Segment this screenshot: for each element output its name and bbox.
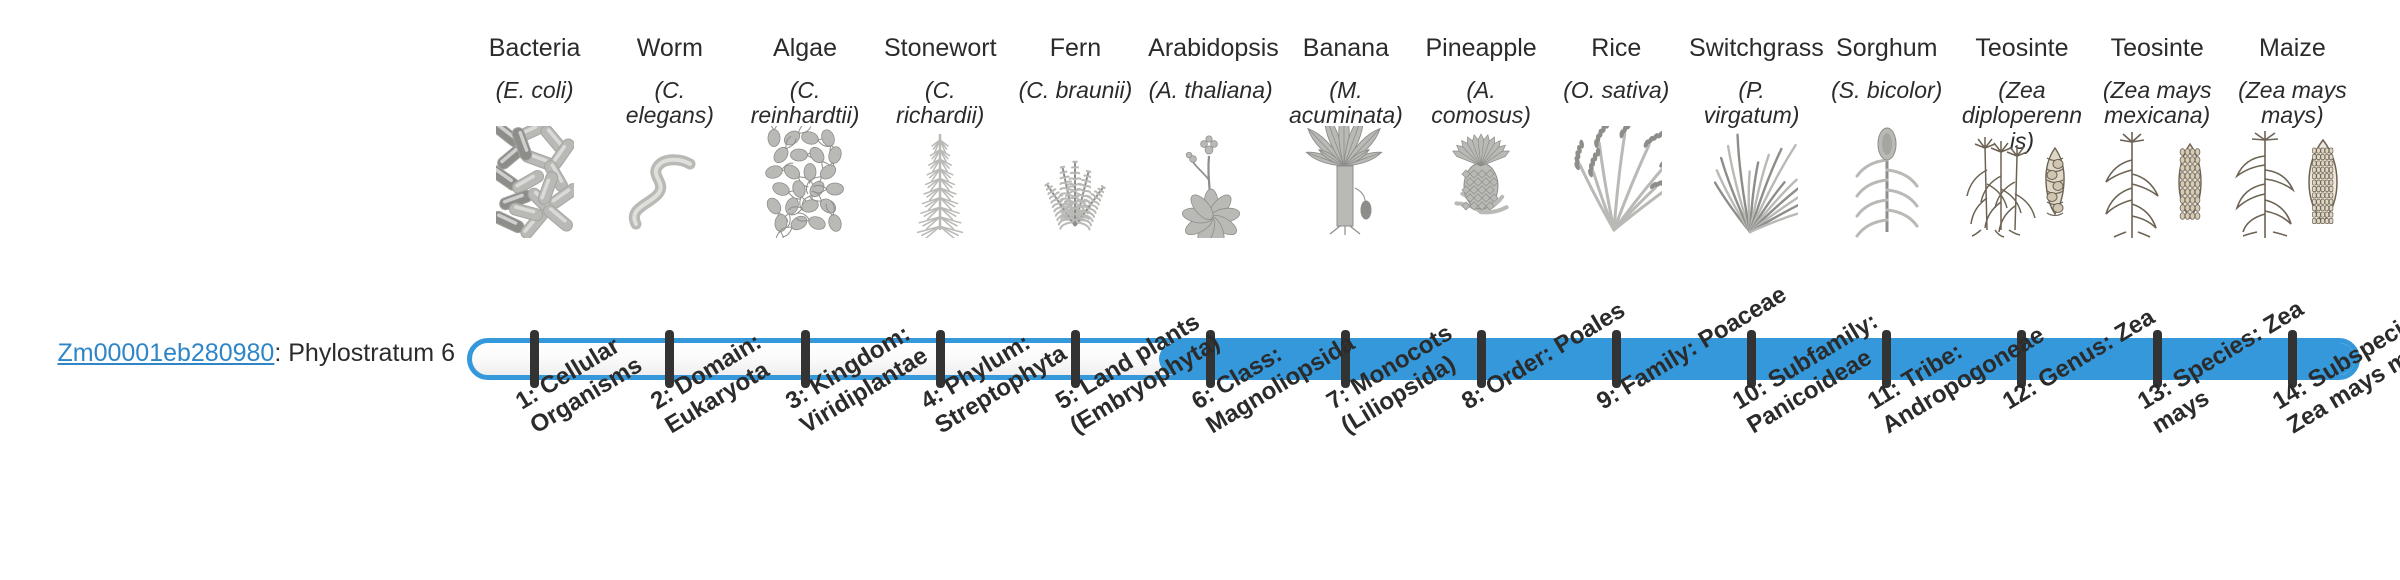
species-latin-name: (C. elegans): [607, 68, 732, 136]
worm-icon: [607, 142, 732, 238]
species-common-name: Rice: [1554, 0, 1679, 68]
species-common-name: Switchgrass: [1689, 0, 1814, 68]
species-column: Algae(C. reinhardtii): [743, 0, 868, 238]
species-common-name: Fern: [1013, 0, 1138, 68]
arabidopsis-icon: [1148, 142, 1273, 238]
species-common-name: Arabidopsis: [1148, 0, 1273, 68]
species-column: Stonewort(C. richardii): [878, 0, 1003, 238]
species-common-name: Banana: [1283, 0, 1408, 68]
species-common-name: Sorghum: [1824, 0, 1949, 68]
sorghum-icon: [1824, 142, 1949, 238]
species-column: Arabidopsis(A. thaliana): [1148, 0, 1273, 238]
stonewort-icon: [878, 142, 1003, 238]
rice-icon: [1554, 142, 1679, 238]
teosinte-diplo-icon: [1959, 142, 2084, 238]
species-column: Rice(O. sativa): [1554, 0, 1679, 238]
species-column: Worm(C. elegans): [607, 0, 732, 238]
species-column: Bacteria(E. coli): [472, 0, 597, 238]
species-common-name: Maize: [2230, 0, 2355, 68]
species-common-name: Stonewort: [878, 0, 1003, 68]
species-column: Teosinte(Zea mays mexicana): [2095, 0, 2220, 238]
bacteria-icon: [472, 142, 597, 238]
taxonomic-rank-labels: 1: Cellular Organisms2: Domain: Eukaryot…: [467, 392, 2360, 580]
pineapple-icon: [1419, 142, 1544, 238]
species-column: Pineapple(A. comosus): [1419, 0, 1544, 238]
rank-name: Subfamily: Panicoideae: [1742, 308, 1882, 440]
species-column: Sorghum(S. bicolor): [1824, 0, 1949, 238]
teosinte-mex-icon: [2095, 142, 2220, 238]
species-common-name: Teosinte: [2095, 0, 2220, 68]
maize-icon: [2230, 142, 2355, 238]
species-columns: Bacteria(E. coli): [467, 0, 2360, 310]
species-column: Switchgrass(P. virgatum): [1689, 0, 1814, 238]
species-common-name: Worm: [607, 0, 732, 68]
species-column: Banana(M. acuminata): [1283, 0, 1408, 238]
fern-icon: [1013, 142, 1138, 238]
banana-icon: [1283, 142, 1408, 238]
species-common-name: Pineapple: [1419, 0, 1544, 68]
switchgrass-icon: [1689, 142, 1814, 238]
algae-icon: [743, 142, 868, 238]
species-common-name: Teosinte: [1959, 0, 2084, 68]
species-column: Maize(Zea mays mays): [2230, 0, 2355, 238]
species-common-name: Bacteria: [472, 0, 597, 68]
species-column: Teosinte(Zea diploperennis): [1959, 0, 2084, 238]
species-common-name: Algae: [743, 0, 868, 68]
species-column: Fern(C. braunii): [1013, 0, 1138, 238]
